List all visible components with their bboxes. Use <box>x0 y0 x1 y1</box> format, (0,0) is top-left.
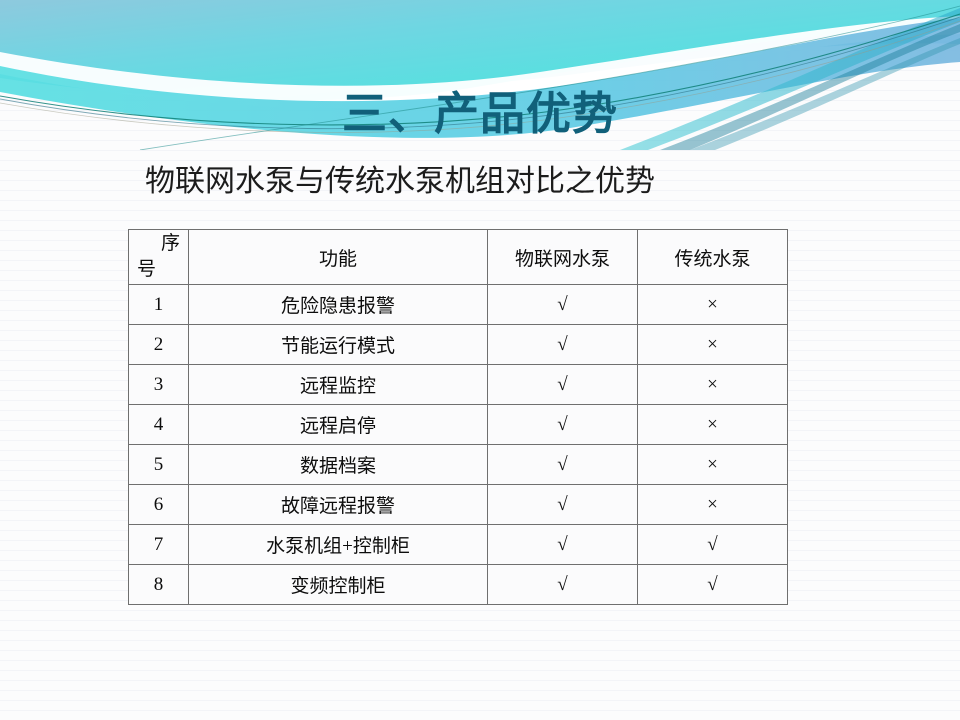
cell-traditional-pump-mark: × <box>638 445 788 485</box>
cell-function-name: 变频控制柜 <box>189 565 488 605</box>
column-header-function: 功能 <box>189 230 488 285</box>
cell-iot-pump-mark: √ <box>488 365 638 405</box>
cell-sequence-number: 6 <box>129 485 189 525</box>
cell-iot-pump-mark: √ <box>488 405 638 445</box>
cell-traditional-pump-mark: × <box>638 365 788 405</box>
table-row: 3远程监控√× <box>129 365 788 405</box>
cell-function-name: 远程启停 <box>189 405 488 445</box>
table-row: 5数据档案√× <box>129 445 788 485</box>
cell-traditional-pump-mark: × <box>638 285 788 325</box>
cell-iot-pump-mark: √ <box>488 285 638 325</box>
table-row: 6故障远程报警√× <box>129 485 788 525</box>
table-row: 7水泵机组+控制柜√√ <box>129 525 788 565</box>
presentation-slide: 三、产品优势 物联网水泵与传统水泵机组对比之优势 序 号 功能 物联网水泵 传统… <box>0 0 960 720</box>
cell-traditional-pump-mark: × <box>638 405 788 445</box>
sequence-label-bottom: 号 <box>137 259 156 281</box>
cell-traditional-pump-mark: √ <box>638 525 788 565</box>
column-header-iot-pump: 物联网水泵 <box>488 230 638 285</box>
page-title: 三、产品优势 <box>0 88 960 140</box>
table-row: 4远程启停√× <box>129 405 788 445</box>
cell-function-name: 故障远程报警 <box>189 485 488 525</box>
page-subtitle: 物联网水泵与传统水泵机组对比之优势 <box>0 163 800 201</box>
comparison-table: 序 号 功能 物联网水泵 传统水泵 1危险隐患报警√×2节能运行模式√×3远程监… <box>128 229 788 605</box>
cell-function-name: 危险隐患报警 <box>189 285 488 325</box>
column-header-sequence: 序 号 <box>129 230 189 285</box>
cell-iot-pump-mark: √ <box>488 485 638 525</box>
cell-function-name: 远程监控 <box>189 365 488 405</box>
cell-traditional-pump-mark: × <box>638 325 788 365</box>
table-header-row: 序 号 功能 物联网水泵 传统水泵 <box>129 230 788 285</box>
cell-iot-pump-mark: √ <box>488 565 638 605</box>
cell-sequence-number: 8 <box>129 565 189 605</box>
sequence-label-top: 序 <box>161 233 180 255</box>
cell-iot-pump-mark: √ <box>488 445 638 485</box>
cell-sequence-number: 7 <box>129 525 189 565</box>
cell-sequence-number: 4 <box>129 405 189 445</box>
cell-traditional-pump-mark: √ <box>638 565 788 605</box>
cell-traditional-pump-mark: × <box>638 485 788 525</box>
cell-function-name: 水泵机组+控制柜 <box>189 525 488 565</box>
cell-iot-pump-mark: √ <box>488 325 638 365</box>
table-row: 2节能运行模式√× <box>129 325 788 365</box>
cell-iot-pump-mark: √ <box>488 525 638 565</box>
table-row: 8变频控制柜√√ <box>129 565 788 605</box>
cell-sequence-number: 5 <box>129 445 189 485</box>
table-row: 1危险隐患报警√× <box>129 285 788 325</box>
cell-sequence-number: 2 <box>129 325 189 365</box>
cell-sequence-number: 3 <box>129 365 189 405</box>
column-header-traditional-pump: 传统水泵 <box>638 230 788 285</box>
table-body: 1危险隐患报警√×2节能运行模式√×3远程监控√×4远程启停√×5数据档案√×6… <box>129 285 788 605</box>
cell-function-name: 节能运行模式 <box>189 325 488 365</box>
cell-sequence-number: 1 <box>129 285 189 325</box>
cell-function-name: 数据档案 <box>189 445 488 485</box>
